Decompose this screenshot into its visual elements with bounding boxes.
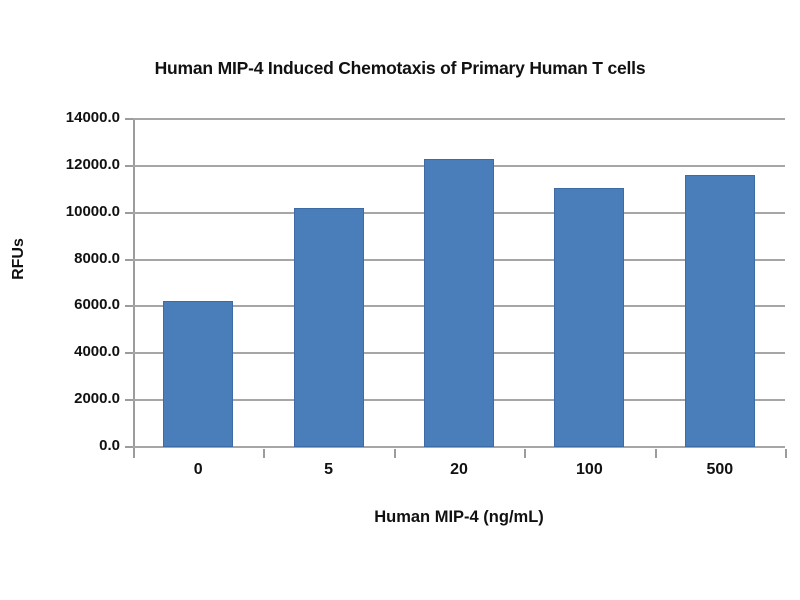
bar [163,301,233,447]
y-axis-tick [125,212,133,214]
y-axis-tick [125,165,133,167]
bar [294,208,364,447]
x-axis-tick [524,449,526,458]
x-axis-tick-label: 500 [660,461,780,479]
y-axis-tick-label: 8000.0 [10,250,120,267]
gridline [133,118,785,120]
bar [424,159,494,447]
bar [685,175,755,447]
x-axis-tick-label: 5 [269,461,389,479]
y-axis-tick [125,352,133,354]
y-axis-tick-label: 14000.0 [10,109,120,126]
y-axis-tick [125,118,133,120]
plot-area [133,119,785,447]
y-axis-tick [125,446,133,448]
x-axis-tick [263,449,265,458]
chart-container: Human MIP-4 Induced Chemotaxis of Primar… [0,0,800,600]
chart-title: Human MIP-4 Induced Chemotaxis of Primar… [0,58,800,79]
y-axis-tick-labels: 0.02000.04000.06000.08000.010000.012000.… [8,0,120,600]
y-axis-tick-label: 12000.0 [10,156,120,173]
y-axis-tick-label: 6000.0 [10,296,120,313]
y-axis-tick-label: 2000.0 [10,390,120,407]
x-axis-tick-label: 20 [399,461,519,479]
y-axis-tick-label: 10000.0 [10,203,120,220]
x-axis-tick-label: 0 [138,461,258,479]
y-axis-tick-label: 4000.0 [10,343,120,360]
y-axis-tick [125,259,133,261]
bar [554,188,624,447]
y-axis-tick [125,305,133,307]
x-axis-tick [655,449,657,458]
x-axis-tick [394,449,396,458]
x-axis-tick [133,449,135,458]
x-axis-title: Human MIP-4 (ng/mL) [133,508,785,527]
y-axis-tick [125,399,133,401]
x-axis-tick-label: 100 [529,461,649,479]
x-axis-tick [785,449,787,458]
y-axis-tick-label: 0.0 [10,437,120,454]
